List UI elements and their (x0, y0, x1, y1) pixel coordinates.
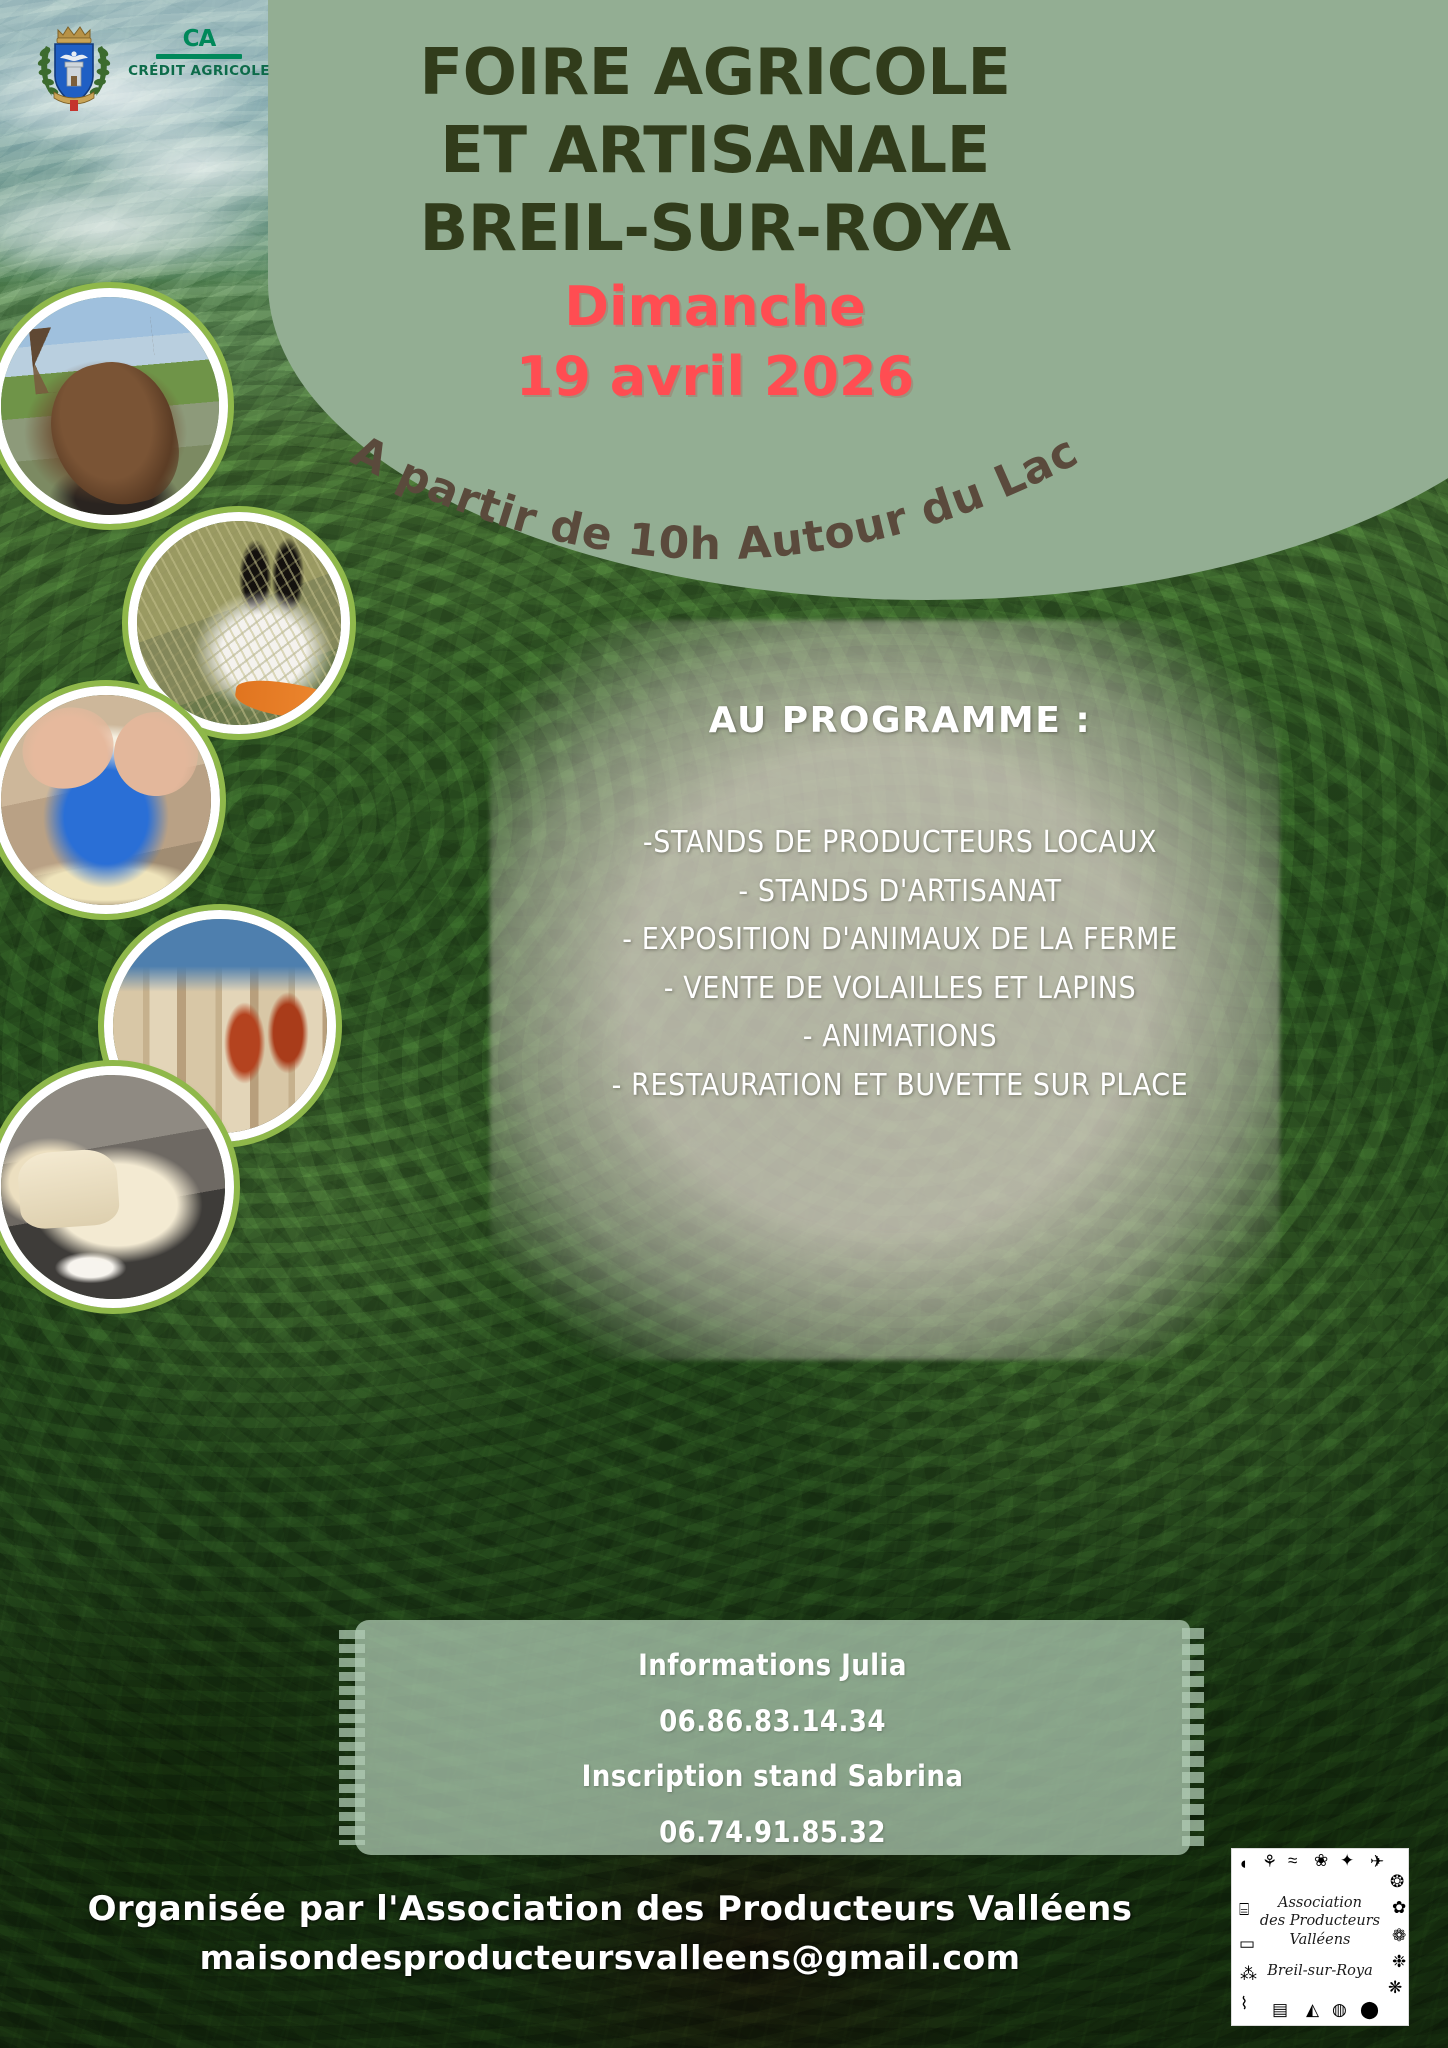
footer-block: Organisée par l'Association des Producte… (40, 1885, 1180, 1981)
poster-canvas: CA CRÉDIT AGRICOLE FOIRE AGRICOLE ET ART… (0, 0, 1448, 2048)
programme-item: - EXPOSITION D'ANIMAUX DE LA FERME (500, 916, 1300, 965)
programme-list: -STANDS DE PRODUCTEURS LOCAUX - STANDS D… (500, 819, 1300, 1111)
title-line-2: ET ARTISANALE (300, 112, 1130, 190)
credit-agricole-rule (156, 54, 242, 59)
association-logo-text: Association des Producteurs Valléens Bre… (1232, 1849, 1408, 2025)
contact-registration-name: Inscription stand Sabrina (355, 1749, 1190, 1805)
programme-item: -STANDS DE PRODUCTEURS LOCAUX (500, 819, 1300, 868)
cheese-making-photo (0, 686, 220, 914)
programme-item: - STANDS D'ARTISANAT (500, 868, 1300, 917)
association-logo: ◖ ⚘ ≈ ❀ ✦ ✈ ❂ ✿ ❁ ❉ ❋ ⬤ ◍ ◭ ▤ ⌇ ⁂ ▭ ⌸ As… (1231, 1848, 1409, 2026)
curved-subtitle: A partir de 10h Autour du Lac (300, 430, 1130, 620)
contact-registration-phone: 06.74.91.85.32 (355, 1805, 1190, 1861)
association-name-line-3: Valléens (1289, 1931, 1350, 1949)
title-line-3: BREIL-SUR-ROYA (300, 190, 1130, 268)
date-line-weekday: Dimanche (300, 276, 1130, 338)
goat-photo-image (1, 297, 219, 515)
cheese-making-photo-image (1, 695, 211, 905)
programme-item: - VENTE DE VOLAILLES ET LAPINS (500, 965, 1300, 1014)
tomme-cheese-photo-image (1, 1075, 225, 1299)
programme-block: AU PROGRAMME : -STANDS DE PRODUCTEURS LO… (500, 700, 1300, 1111)
curved-subtitle-text: A partir de 10h Autour du Lac (344, 426, 1087, 571)
association-name-line-2: des Producteurs (1260, 1912, 1380, 1930)
goat-photo (0, 288, 228, 524)
programme-title: AU PROGRAMME : (500, 700, 1300, 741)
contact-info-name: Informations Julia (355, 1638, 1190, 1694)
tomme-cheese-photo (0, 1066, 234, 1308)
date-line-date: 19 avril 2026 (300, 346, 1130, 408)
credit-agricole-logo: CA CRÉDIT AGRICOLE (124, 28, 274, 84)
title-line-1: FOIRE AGRICOLE (300, 34, 1130, 112)
poster-title-block: FOIRE AGRICOLE ET ARTISANALE BREIL-SUR-R… (300, 34, 1130, 408)
credit-agricole-mark: CA (124, 28, 274, 51)
town-crest-icon (36, 16, 112, 112)
association-town: Breil-sur-Roya (1267, 1962, 1372, 1980)
footer-email[interactable]: maisondesproducteursvalleens@gmail.com (40, 1934, 1180, 1982)
contact-block: Informations Julia 06.86.83.14.34 Inscri… (355, 1638, 1190, 1861)
association-name-line-1: Association (1278, 1894, 1362, 1912)
programme-item: - RESTAURATION ET BUVETTE SUR PLACE (500, 1062, 1300, 1111)
programme-item: - ANIMATIONS (500, 1013, 1300, 1062)
credit-agricole-name: CRÉDIT AGRICOLE (124, 63, 274, 79)
contact-info-phone: 06.86.83.14.34 (355, 1694, 1190, 1750)
footer-organiser: Organisée par l'Association des Producte… (40, 1885, 1180, 1934)
